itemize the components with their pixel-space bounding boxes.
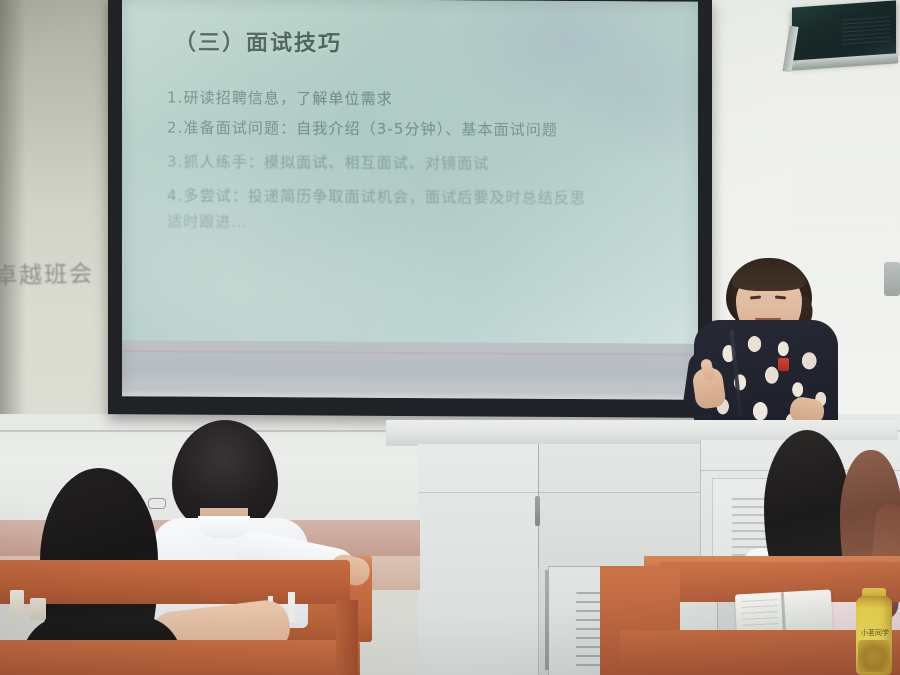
- slide-bullet-4: 4.多尝试：投递简历争取面试机会，面试后要及时总结反思: [167, 185, 586, 209]
- desk-left-back: [0, 560, 350, 604]
- wall-fixture: [884, 262, 900, 296]
- desk-left-leg: [336, 600, 358, 675]
- classroom-photo: 卓越班会 （三）面试技巧 1.研读招聘信息，了解单位需求 2.准备面试问题：自我…: [0, 0, 900, 675]
- chalkboard-note: 卓越班会: [0, 253, 114, 290]
- pen-left-b: [288, 592, 295, 622]
- wall-left-shadow: [0, 0, 26, 432]
- projection-screen-surface: （三）面试技巧 1.研读招聘信息，了解单位需求 2.准备面试问题：自我介绍（3-…: [122, 0, 698, 400]
- podium-left-panel: [418, 444, 539, 675]
- desk-left-front: [0, 640, 360, 675]
- cup-left-a: [10, 590, 24, 616]
- book-text-lines: [741, 599, 779, 631]
- podium-latch: [535, 496, 540, 526]
- slide-bullet-2: 2.准备面试问题：自我介绍（3-5分钟）、基本面试问题: [167, 117, 558, 140]
- slide-bullet-1: 1.研读招聘信息，了解单位需求: [167, 87, 393, 109]
- slide-title: （三）面试技巧: [174, 25, 342, 58]
- bottle-brand-label: 小茗同学: [860, 628, 890, 638]
- glasses-icon: [148, 498, 166, 509]
- screen-lower-blank-area: [122, 340, 698, 400]
- podium-door-hinge: [545, 570, 549, 670]
- slide-bullet-4-continuation: 适时跟进…: [167, 211, 248, 232]
- slide-content: （三）面试技巧 1.研读招聘信息，了解单位需求 2.准备面试问题：自我介绍（3-…: [122, 0, 698, 344]
- cup-left-b: [30, 598, 46, 620]
- slide-bullet-3: 3.抓人练手：模拟面试、相互面试、对镜面试: [167, 151, 489, 174]
- student-white-shirt-collar: [198, 516, 250, 538]
- presenter-badge: [778, 358, 789, 371]
- speaker-grill: [842, 16, 890, 45]
- bottle-label-graphic: [858, 640, 890, 672]
- projection-screen-frame: （三）面试技巧 1.研读招聘信息，了解单位需求 2.准备面试问题：自我介绍（3-…: [108, 0, 712, 418]
